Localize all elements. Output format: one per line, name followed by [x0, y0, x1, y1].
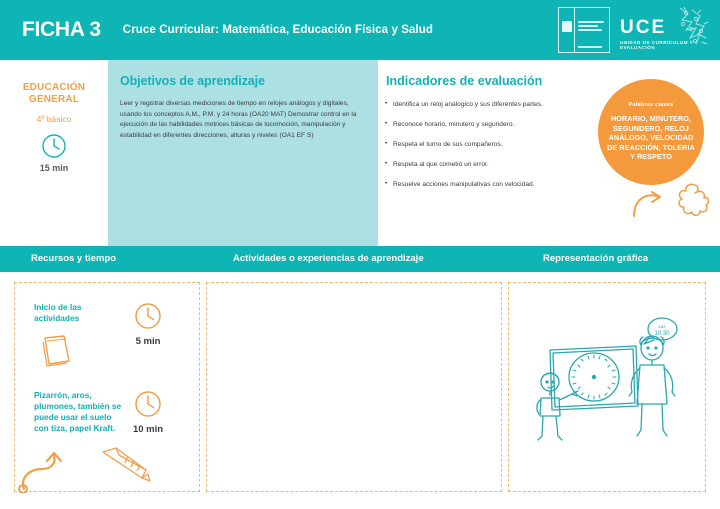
marker-doodle-icon — [98, 444, 158, 484]
header-subtitle: Cruce Curricular: Matemática, Educación … — [123, 24, 433, 36]
list-item: Resuelve acciones manipulativas con velo… — [387, 180, 599, 189]
time-value: 5 min — [136, 336, 161, 347]
uce-logo: UCE UNIDAD DE CURRÍCULUM Y EVALUACIÓN — [620, 7, 706, 55]
objectives-text: Leer y registrar diversas mediciones de … — [108, 88, 378, 141]
keywords-label: Palabras claves — [629, 102, 674, 108]
clock-icon — [134, 302, 162, 330]
resource-row: Pizarrón, aros, plumones, también se pue… — [34, 390, 174, 435]
keywords-text: HORARIO, MINUTERO, SEGUNDERO, RELOJ ANÁL… — [605, 114, 697, 162]
speech-bubble-time: 10:30 — [654, 331, 670, 337]
mineduc-logo-icon — [558, 7, 610, 53]
header-logos: UCE UNIDAD DE CURRÍCULUM Y EVALUACIÓN — [558, 7, 706, 55]
resource-time: 5 min — [122, 302, 174, 347]
crest-icon — [562, 21, 572, 32]
column-header-activities: Actividades o experiencias de aprendizaj… — [233, 253, 424, 264]
upper-section: EDUCACIÓN GENERAL 4º básico 15 min Objet… — [0, 60, 720, 246]
ficha-page: FICHA 3 Cruce Curricular: Matemática, Ed… — [0, 0, 720, 509]
page-title: FICHA 3 — [22, 18, 101, 42]
level-sidebar: EDUCACIÓN GENERAL 4º básico 15 min — [0, 60, 108, 246]
flower-doodle-icon — [674, 180, 714, 220]
keywords-badge: Palabras claves HORARIO, MINUTERO, SEGUN… — [598, 79, 704, 185]
education-level-label: EDUCACIÓN GENERAL — [0, 82, 108, 106]
learning-objectives-panel: Objetivos de aprendizaje Leer y registra… — [108, 60, 378, 246]
mineduc-footer-line — [578, 46, 602, 48]
duration-label: 15 min — [40, 163, 69, 173]
clock-icon — [134, 390, 162, 418]
page-header: FICHA 3 Cruce Curricular: Matemática, Ed… — [0, 0, 720, 60]
mineduc-lines — [578, 21, 604, 33]
evaluation-indicators-panel: Indicadores de evaluación Identifica un … — [378, 60, 720, 246]
resource-label: Pizarrón, aros, plumones, también se pue… — [34, 390, 122, 434]
resource-label: Inicio de las actividades — [34, 302, 122, 324]
arrow-doodle-icon — [630, 188, 664, 222]
list-item: Respeta al que cometió un error. — [387, 160, 599, 169]
list-item: Reconoce horario, minutero y segundero. — [387, 120, 599, 129]
clock-icon — [41, 133, 67, 159]
classroom-clock-illustration: Las 10:30 — [528, 312, 688, 452]
time-value: 10 min — [133, 424, 163, 435]
uce-scribble-icon — [666, 4, 712, 50]
lower-section: Inicio de las actividades 5 min Pizarrón… — [0, 272, 720, 509]
notebook-doodle-icon — [40, 333, 74, 369]
arrow-doodle-icon — [16, 445, 66, 493]
column-header-graphic: Representación gráfica — [543, 253, 648, 264]
resource-time: 10 min — [122, 390, 174, 435]
column-headers-bar: Recursos y tiempo Actividades o experien… — [0, 246, 720, 272]
grade-label: 4º básico — [37, 114, 72, 124]
objectives-title: Objetivos de aprendizaje — [108, 60, 378, 88]
list-item: Identifica un reloj análogico y sus dife… — [387, 100, 599, 109]
column-header-resources: Recursos y tiempo — [31, 253, 116, 264]
speech-bubble-label: Las — [658, 324, 666, 329]
activities-box — [206, 282, 502, 492]
list-item: Respeta el turno de sus compañeros. — [387, 140, 599, 149]
